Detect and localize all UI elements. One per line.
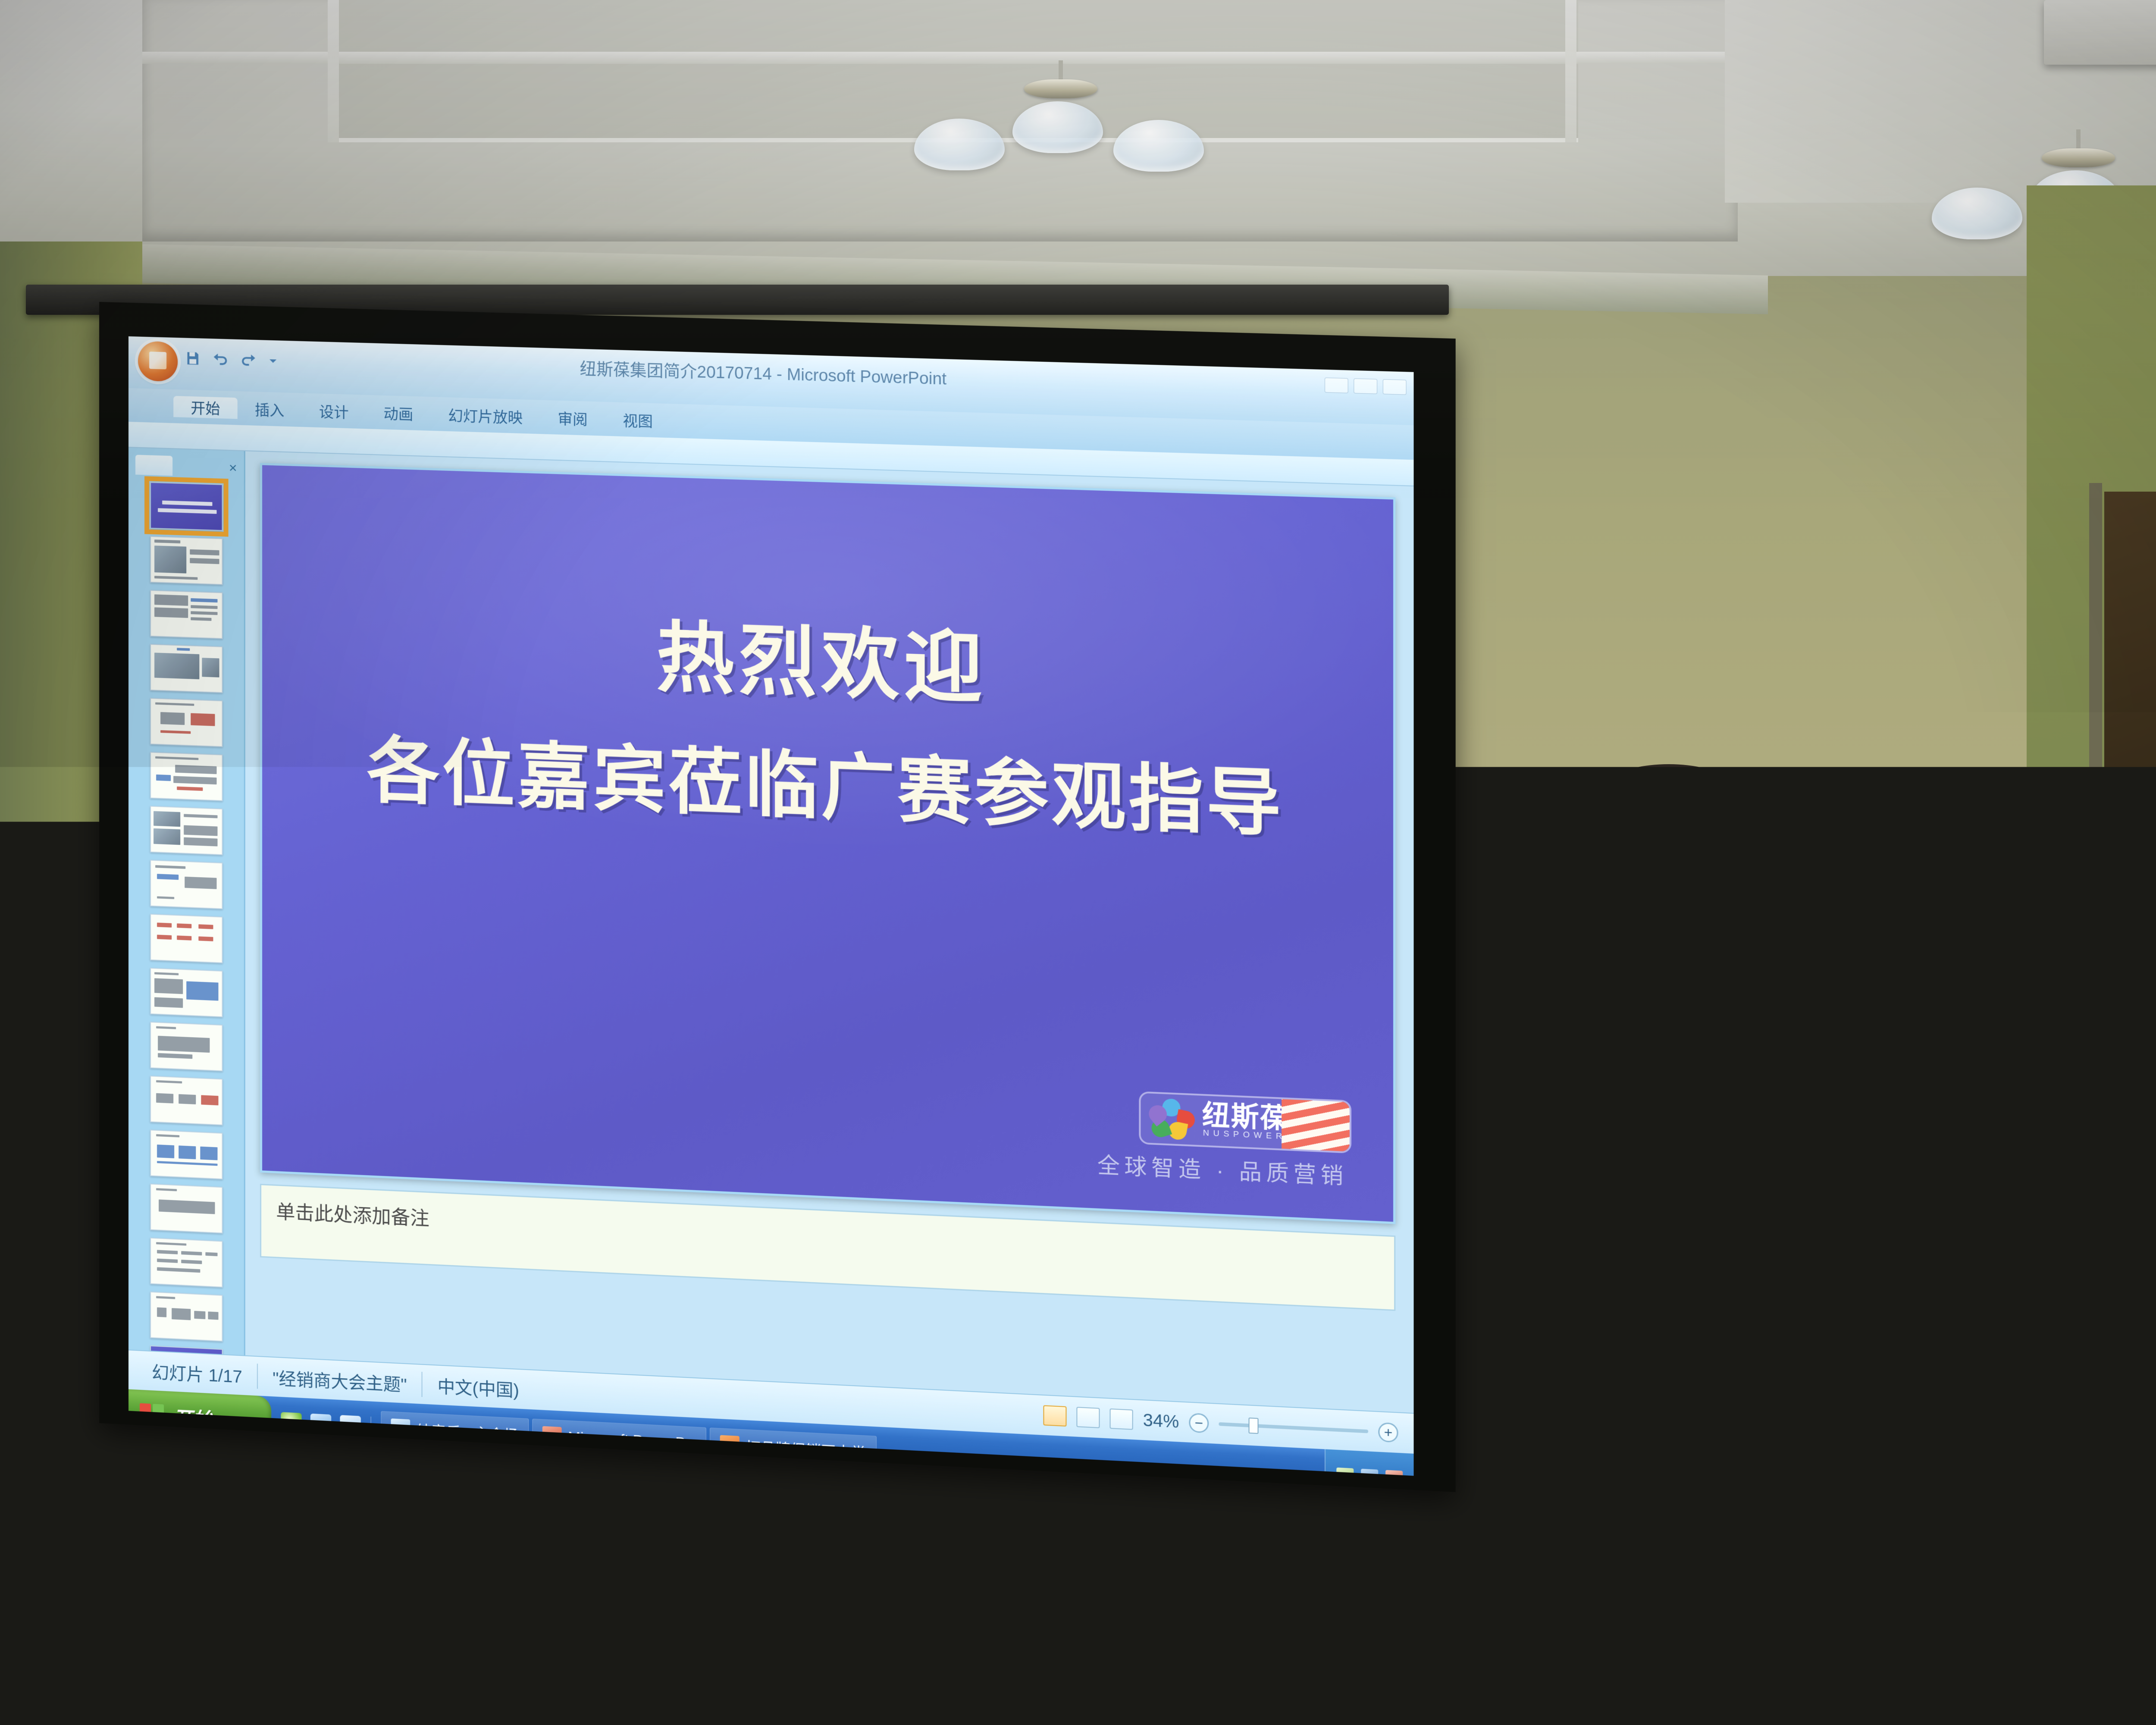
thumbnail-list[interactable] (128, 477, 244, 1397)
restore-button[interactable] (1354, 378, 1377, 394)
ribbon-tab-view[interactable]: 视图 (605, 408, 671, 432)
powerpoint-workspace: × (128, 448, 1414, 1413)
projector-ceiling-plate (2044, 0, 2156, 65)
presenter-nose (1651, 897, 1682, 937)
watch-face (1819, 1484, 1864, 1520)
presenter (1436, 759, 1936, 1725)
lens-left (1573, 853, 1651, 898)
slide-thumbnail-3[interactable] (150, 590, 222, 639)
slide-thumbnail-14[interactable] (150, 1183, 222, 1233)
ribbon-tab-home[interactable]: 开始 (173, 395, 238, 418)
whiteboard[interactable] (2057, 854, 2156, 1345)
slide-thumbnail-16[interactable] (150, 1292, 222, 1342)
theme-name[interactable]: "经销商大会主题" (258, 1364, 423, 1397)
whiteboard-surface[interactable] (2065, 862, 2156, 1324)
slide-thumbnail-7[interactable] (150, 806, 222, 855)
whiteboard-marker-tray (2078, 1323, 2156, 1340)
minimize-button[interactable] (1325, 377, 1348, 393)
slide-counter: 幻灯片 1/17 (137, 1358, 258, 1389)
company-logo: 纽斯葆 NUSPOWER (1139, 1091, 1351, 1153)
light-canopy (1024, 79, 1097, 98)
light-canopy (2042, 148, 2115, 167)
slide-thumbnail-12[interactable] (150, 1076, 222, 1126)
slide-sorter-button[interactable] (1076, 1407, 1100, 1428)
close-button[interactable] (1383, 379, 1407, 395)
slide-thumbnail-15[interactable] (150, 1238, 222, 1288)
zoom-slider[interactable] (1219, 1422, 1368, 1433)
ceiling-beam (328, 0, 339, 142)
ceiling-beam (1565, 0, 1576, 142)
us-flag-icon (1282, 1099, 1350, 1152)
light-shade (1012, 101, 1103, 153)
slide-thumbnail-9[interactable] (150, 914, 222, 963)
conference-room-scene: 接待室 (0, 0, 2156, 1725)
ribbon-tab-slideshow[interactable]: 幻灯片放映 (431, 403, 540, 428)
ribbon-tab-insert[interactable]: 插入 (238, 398, 302, 421)
glasses-bridge (1651, 868, 1689, 872)
projection-screen: 纽斯葆集团简介20170714 - Microsoft PowerPoint 开… (99, 302, 1456, 1492)
whiteboard-brand-sticker (2082, 888, 2106, 913)
logo-chinese-name: 纽斯葆 (1202, 1103, 1289, 1132)
slide-thumbnail-8[interactable] (150, 860, 222, 910)
eyeglasses-icon (1573, 853, 1767, 900)
slide-thumbnail-5[interactable] (150, 698, 222, 747)
floor-cable (0, 1333, 52, 1436)
zoom-out-button[interactable]: − (1189, 1413, 1209, 1433)
zoom-level[interactable]: 34% (1143, 1410, 1179, 1432)
window-controls[interactable] (1325, 377, 1407, 395)
current-slide[interactable]: 热烈欢迎 各位嘉宾莅临广赛参观指导 纽斯葆 (260, 463, 1395, 1224)
slide-edit-area[interactable]: 热烈欢迎 各位嘉宾莅临广赛参观指导 纽斯葆 (245, 451, 1414, 1413)
slide-thumbnail-4[interactable] (150, 644, 222, 693)
lens-right (1689, 853, 1767, 898)
slide-thumbnail-13[interactable] (150, 1129, 222, 1179)
ribbon-tab-design[interactable]: 设计 (302, 399, 366, 423)
presenter-trousers (1468, 1578, 1891, 1725)
whiteboard-foot (2057, 1699, 2156, 1710)
slide-thumbnail-pane[interactable]: × (128, 448, 245, 1355)
normal-view-button[interactable] (1043, 1405, 1066, 1427)
logo-mark-icon (1149, 1098, 1197, 1141)
reading-view-button[interactable] (1109, 1408, 1133, 1430)
thumbnail-pane-header[interactable]: × (128, 452, 244, 480)
notes-placeholder: 单击此处添加备注 (276, 1196, 429, 1231)
ceiling-light-left (901, 60, 1220, 203)
presenter-mouth (1646, 945, 1695, 963)
light-shade (1113, 120, 1204, 172)
system-tray[interactable] (1325, 1449, 1414, 1476)
ribbon-tab-animations[interactable]: 动画 (366, 401, 431, 424)
slide-thumbnail-6[interactable] (150, 752, 222, 801)
slide-thumbnail-10[interactable] (150, 968, 222, 1017)
slide-tagline: 全球智造 · 品质营销 (1097, 1148, 1348, 1191)
zoom-in-button[interactable]: + (1378, 1422, 1398, 1443)
light-shade (914, 119, 1005, 170)
ribbon-tab-review[interactable]: 审阅 (540, 406, 605, 430)
language-indicator[interactable]: 中文(中国) (423, 1372, 534, 1402)
light-shade (1932, 188, 2022, 239)
zoom-slider-handle[interactable] (1249, 1418, 1259, 1434)
slide-thumbnail-1[interactable] (150, 482, 222, 531)
powerpoint-window[interactable]: 纽斯葆集团简介20170714 - Microsoft PowerPoint 开… (128, 336, 1414, 1476)
close-icon[interactable]: × (229, 460, 237, 476)
slide-thumbnail-11[interactable] (150, 1022, 222, 1071)
slides-tab[interactable] (135, 455, 172, 476)
slide-thumbnail-2[interactable] (150, 536, 222, 585)
